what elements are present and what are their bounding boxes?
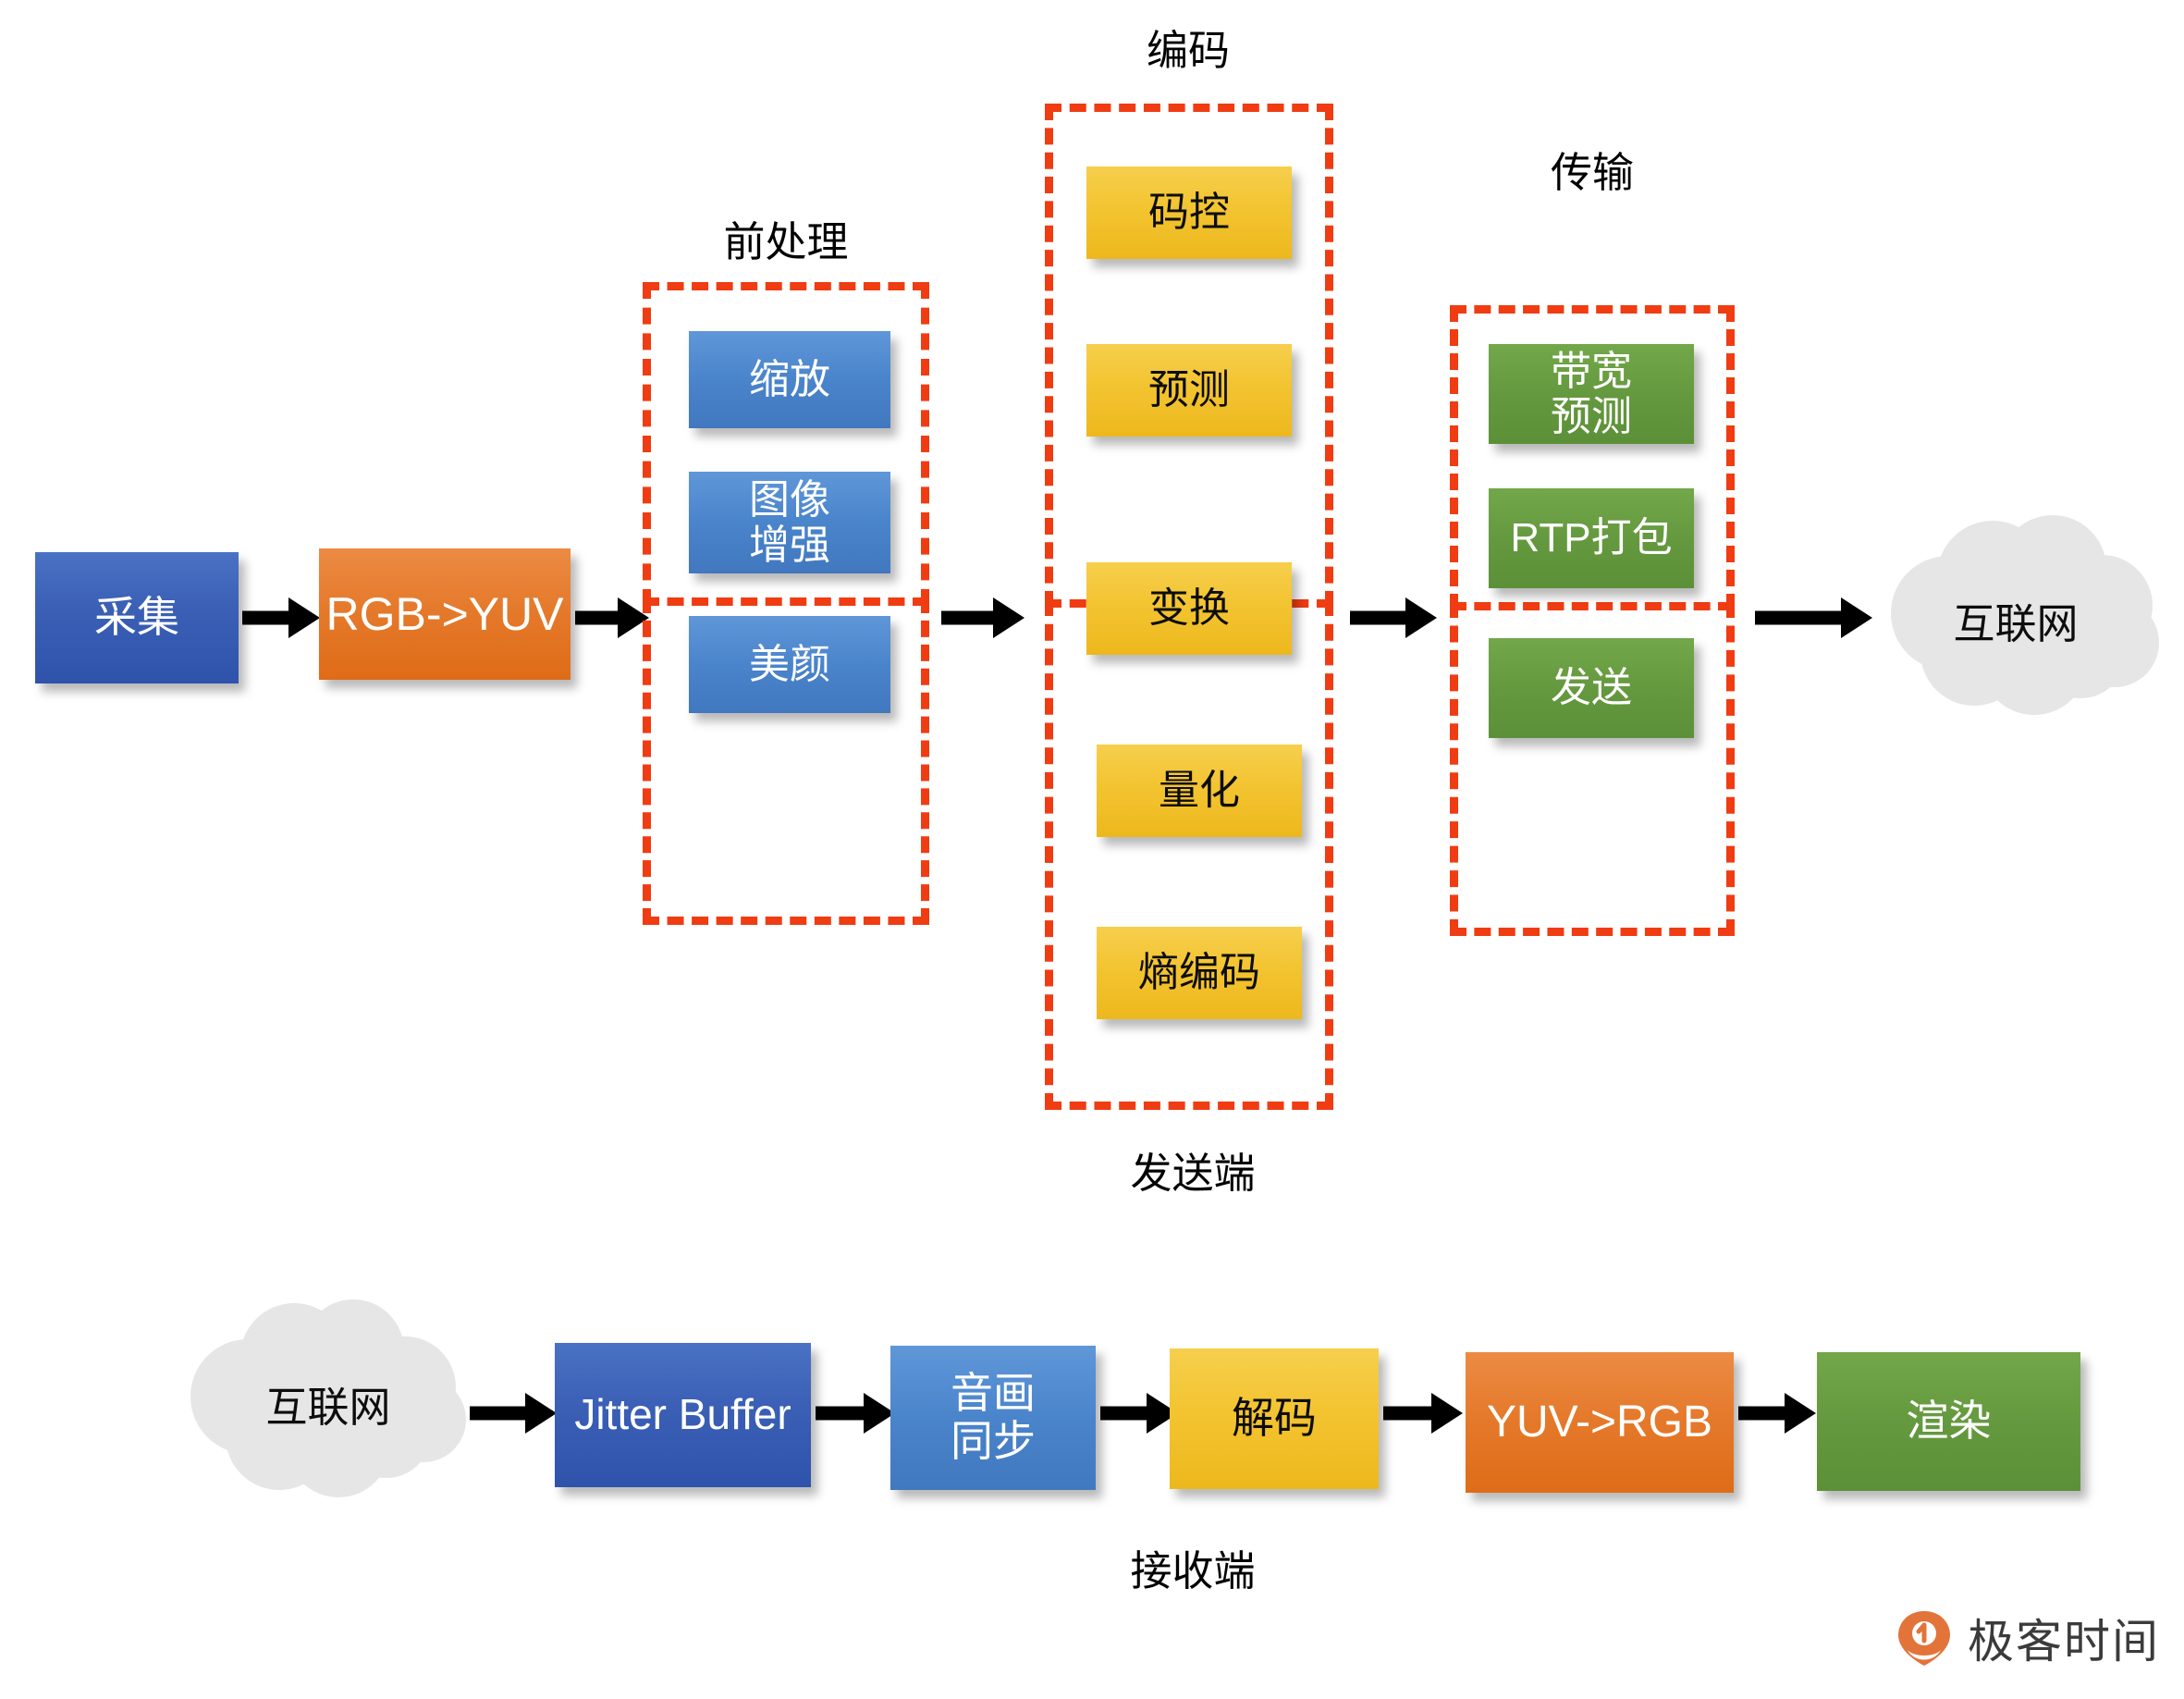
node-prediction[interactable]: 预测	[1086, 344, 1292, 437]
node-rtp-packetize-label: RTP打包	[1510, 515, 1672, 560]
node-decode[interactable]: 解码	[1170, 1348, 1379, 1489]
node-transform-label: 变换	[1148, 585, 1230, 631]
node-beauty-label: 美颜	[749, 642, 830, 687]
cloud-internet-sender: 互联网	[1863, 513, 2168, 726]
caption-transmit: 传输	[1454, 139, 1731, 199]
node-yuv-to-rgb-label: YUV->RGB	[1487, 1397, 1712, 1447]
node-bandwidth-estimation[interactable]: 带宽 预测	[1489, 344, 1694, 444]
node-quantization-label: 量化	[1159, 768, 1240, 813]
cloud-internet-receiver: 互联网	[176, 1299, 481, 1508]
title-sender: 发送端	[1054, 1139, 1331, 1200]
node-yuv-to-rgb[interactable]: YUV->RGB	[1466, 1352, 1734, 1493]
node-prediction-label: 预测	[1148, 367, 1230, 412]
node-quantization[interactable]: 量化	[1097, 745, 1302, 837]
node-render-label: 渲染	[1907, 1397, 1992, 1446]
brand-name: 极客时间	[1968, 1605, 2160, 1671]
node-image-enhance-label: 图像 增强	[749, 477, 830, 569]
node-av-sync[interactable]: 音画 同步	[890, 1346, 1096, 1490]
cloud-internet-receiver-label: 互联网	[176, 1299, 481, 1519]
node-bandwidth-estimation-label: 带宽 预测	[1551, 349, 1632, 440]
diagram-canvas: 采集 RGB->YUV 前处理 缩放 图像 增强 美颜 编码 码控 预测	[0, 0, 2184, 1699]
node-av-sync-label: 音画 同步	[951, 1370, 1036, 1465]
node-capture[interactable]: 采集	[35, 552, 239, 683]
cloud-internet-sender-label: 互联网	[1863, 513, 2168, 737]
node-rgb-to-yuv-label: RGB->YUV	[325, 588, 563, 640]
node-entropy-coding-label: 熵编码	[1138, 950, 1260, 995]
node-scale[interactable]: 缩放	[689, 331, 890, 428]
node-decode-label: 解码	[1232, 1395, 1317, 1443]
node-render[interactable]: 渲染	[1817, 1352, 2080, 1491]
caption-encode: 编码	[1049, 17, 1327, 77]
node-scale-label: 缩放	[749, 357, 830, 402]
node-transform[interactable]: 变换	[1086, 562, 1292, 655]
node-rtp-packetize[interactable]: RTP打包	[1489, 488, 1694, 588]
caption-preprocess: 前处理	[647, 208, 925, 268]
node-image-enhance[interactable]: 图像 增强	[689, 472, 890, 573]
node-beauty[interactable]: 美颜	[689, 616, 890, 713]
node-rate-control-label: 码控	[1148, 190, 1230, 235]
node-entropy-coding[interactable]: 熵编码	[1097, 927, 1302, 1019]
node-capture-label: 采集	[94, 594, 179, 642]
node-jitter-buffer[interactable]: Jitter Buffer	[555, 1343, 811, 1487]
node-send-label: 发送	[1551, 665, 1632, 710]
node-send[interactable]: 发送	[1489, 638, 1694, 738]
node-rate-control[interactable]: 码控	[1086, 166, 1292, 259]
brand-logo: 极客时间	[1896, 1605, 2160, 1671]
title-receiver: 接收端	[1054, 1537, 1331, 1597]
node-jitter-buffer-label: Jitter Buffer	[574, 1391, 791, 1439]
geektime-logo-icon	[1896, 1609, 1953, 1667]
group-encode-lower	[1045, 599, 1333, 1110]
node-rgb-to-yuv[interactable]: RGB->YUV	[319, 548, 571, 680]
